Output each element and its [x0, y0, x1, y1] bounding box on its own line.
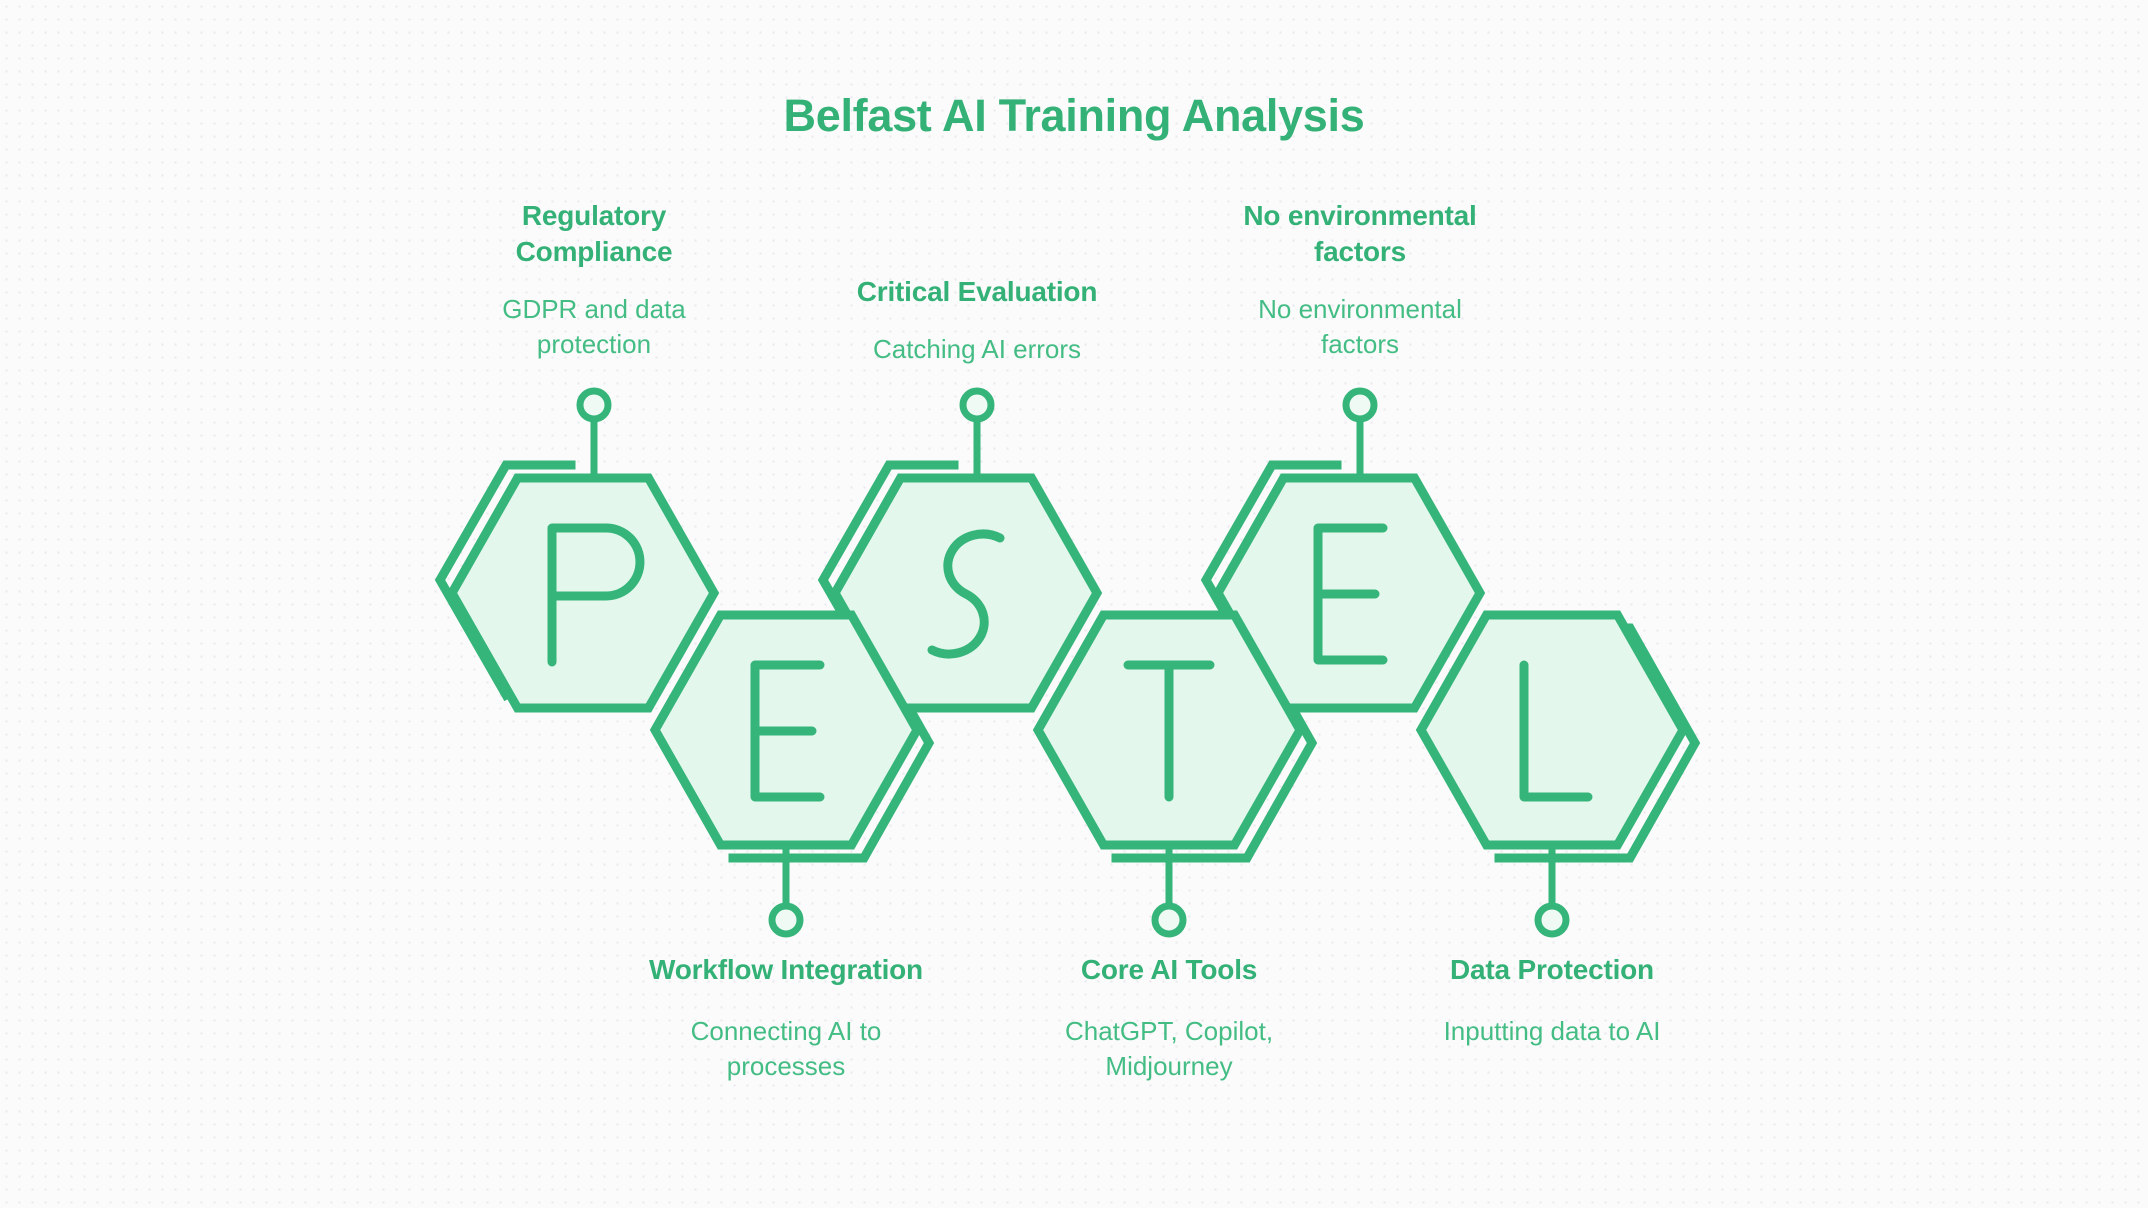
callout-heading: Workflow Integration	[586, 952, 986, 988]
callout-description: Catching AI errors	[777, 332, 1177, 367]
callout-description: Inputting data to AI	[1352, 1014, 1752, 1049]
connector-stem-e-bottom	[772, 835, 800, 934]
callout-description: ChatGPT, Copilot, Midjourney	[969, 1014, 1369, 1085]
callout-top-critical-evaluation: Critical Evaluation Catching AI errors	[777, 274, 1177, 367]
callout-top-regulatory-compliance: Regulatory Compliance GDPR and data prot…	[394, 198, 794, 362]
callout-heading: Regulatory Compliance	[394, 198, 794, 270]
callout-bottom-data-protection: Data Protection Inputting data to AI	[1352, 952, 1752, 1049]
callout-top-no-environmental-factors: No environmental factors No environmenta…	[1160, 198, 1560, 362]
hexagon-shapes	[452, 478, 1683, 845]
callout-bottom-core-ai-tools: Core AI Tools ChatGPT, Copilot, Midjourn…	[969, 952, 1369, 1085]
callout-description: GDPR and data protection	[394, 292, 794, 363]
callout-description: No environmental factors	[1160, 292, 1560, 363]
callout-description: Connecting AI to processes	[586, 1014, 986, 1085]
diagram-canvas: Belfast AI Training Analysis	[0, 0, 2148, 1208]
callout-heading: Core AI Tools	[969, 952, 1369, 988]
callout-heading: Critical Evaluation	[777, 274, 1177, 310]
callout-heading: No environmental factors	[1160, 198, 1560, 270]
connector-group-bottom	[772, 835, 1566, 934]
connector-stem-l	[1538, 835, 1566, 934]
callout-heading: Data Protection	[1352, 952, 1752, 988]
callout-bottom-workflow-integration: Workflow Integration Connecting AI to pr…	[586, 952, 986, 1085]
connector-stem-t	[1155, 835, 1183, 934]
